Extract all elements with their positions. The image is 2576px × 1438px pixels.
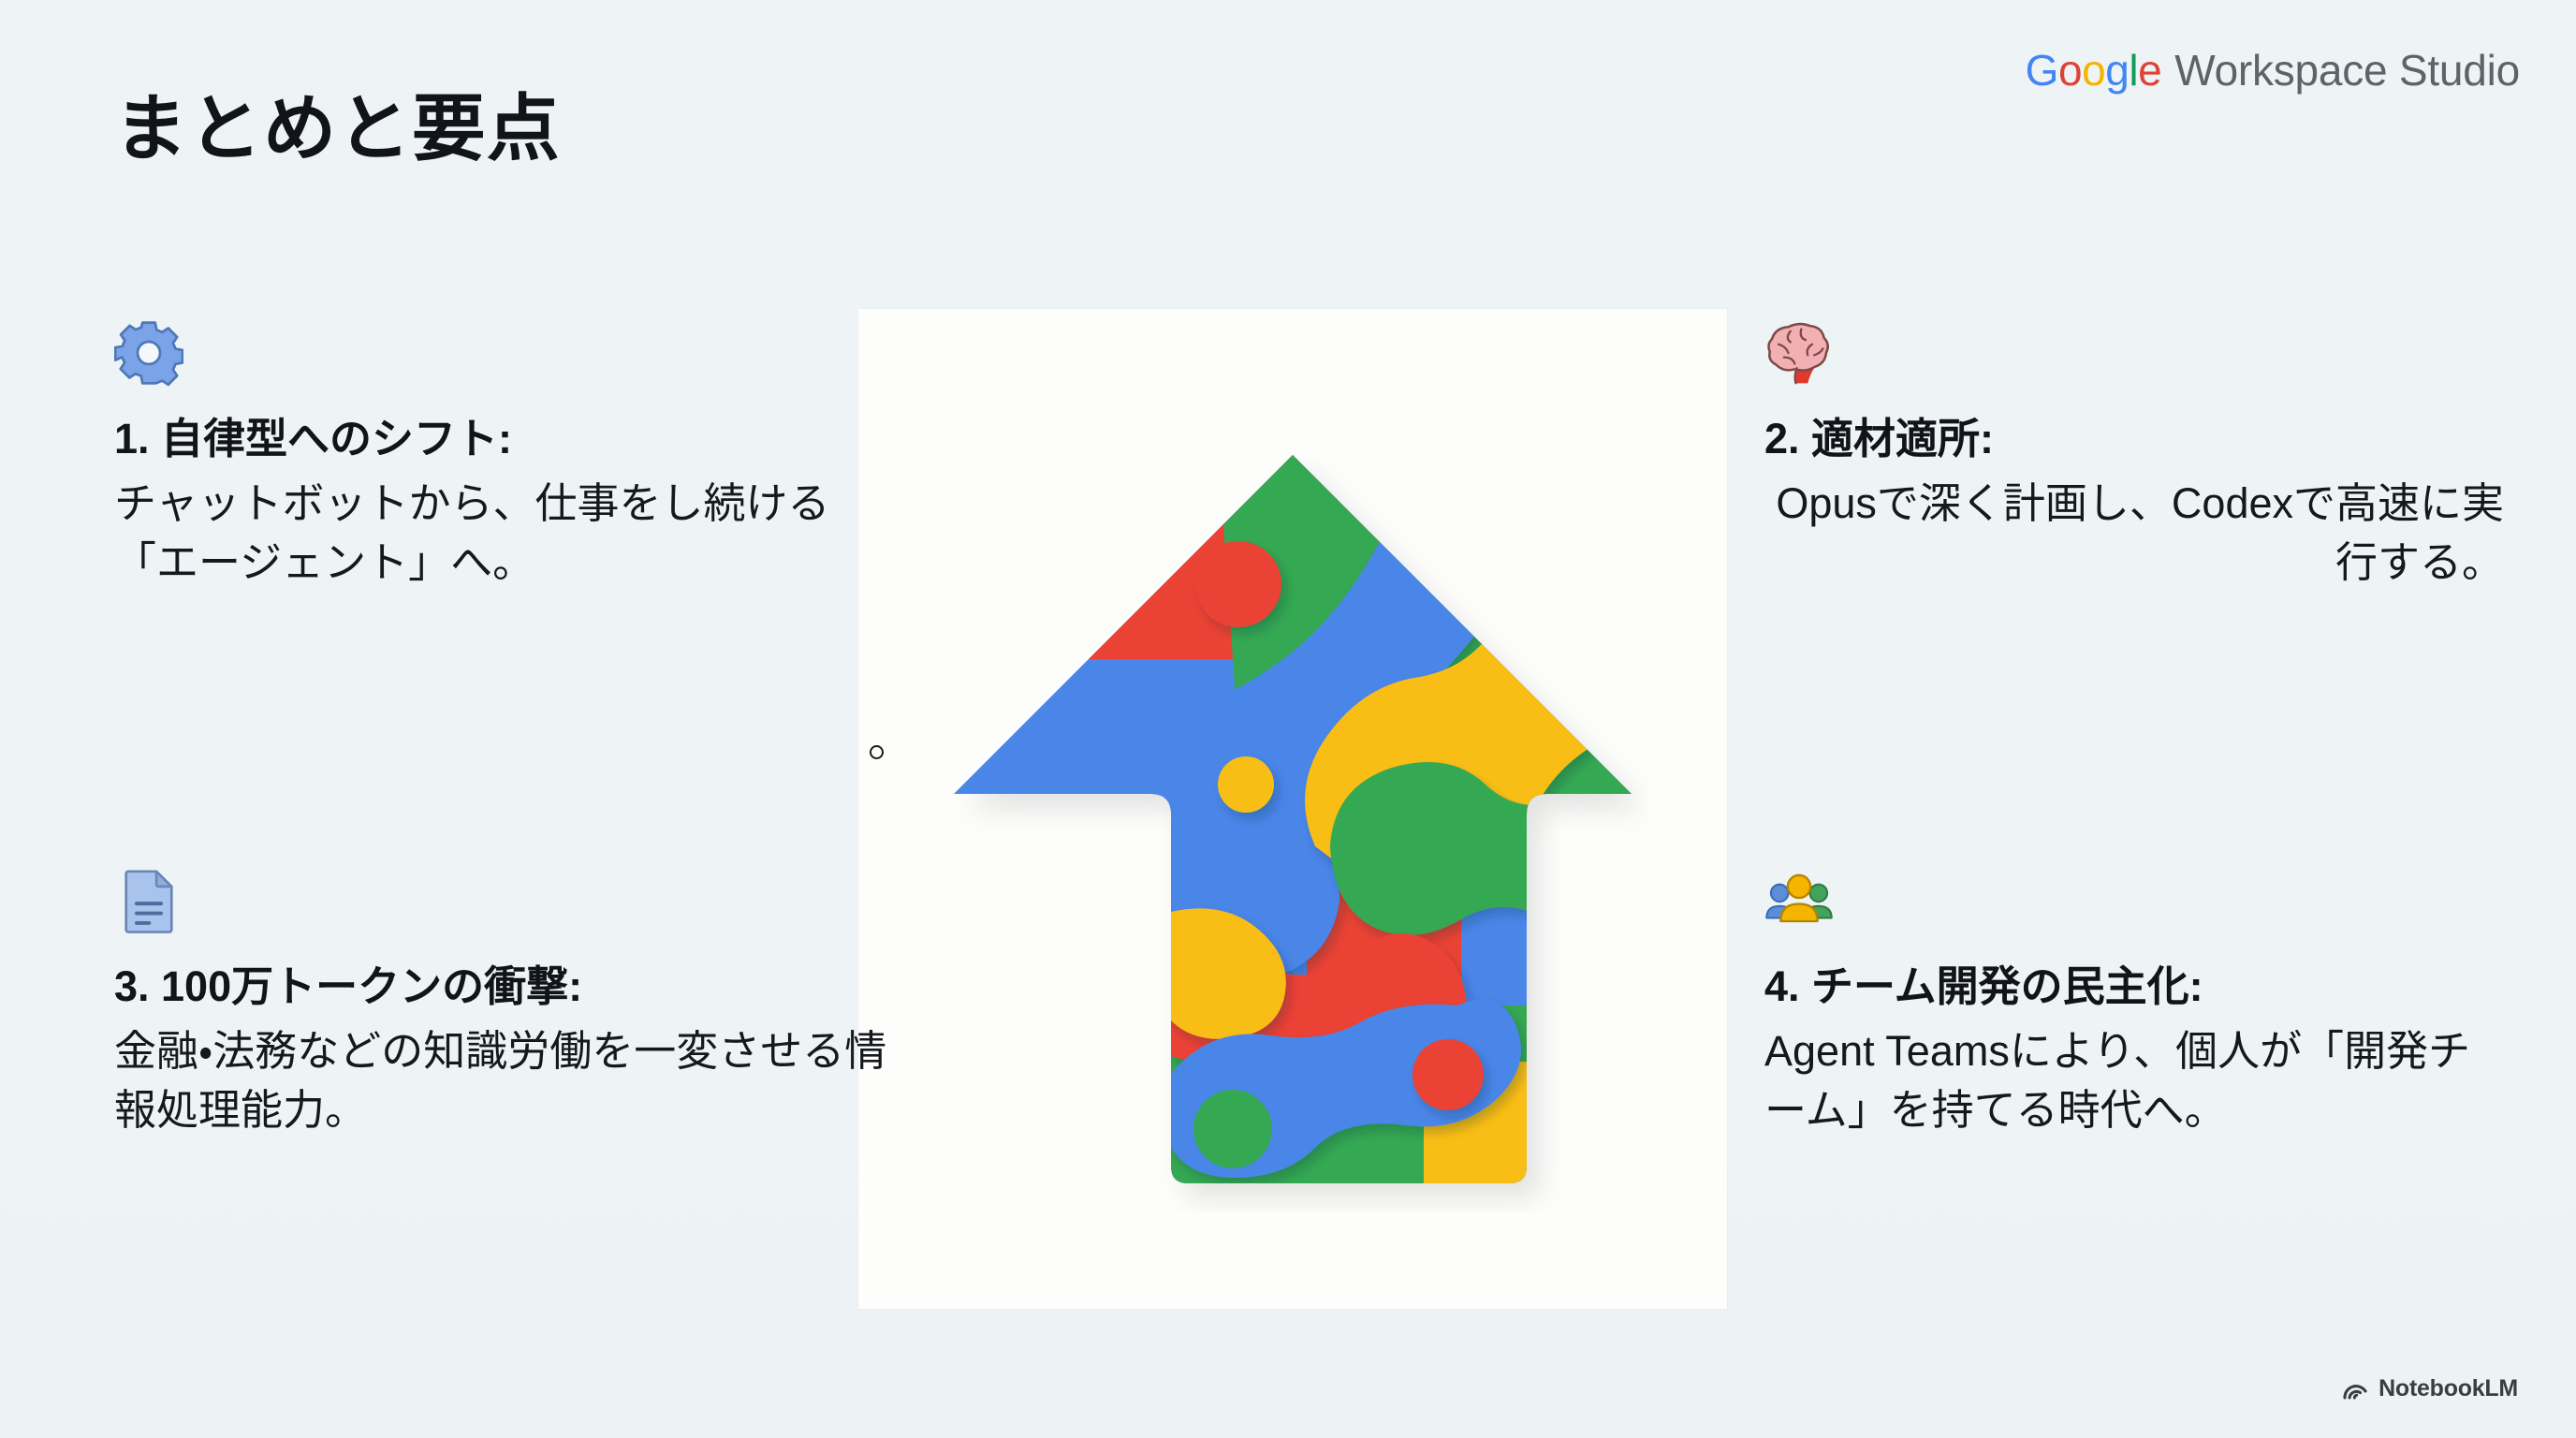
key-point-2: 2. 適材適所: Opusで深く計画し、Codexで高速に実行する。 <box>1764 318 2504 593</box>
key-point-1-heading: 1. 自律型へのシフト: <box>114 412 900 466</box>
google-letter: g <box>2105 49 2129 92</box>
key-point-1-body: チャットボットから、仕事をし続ける「エージェント」へ。 <box>114 474 900 594</box>
key-point-2-body: Opusで深く計画し、Codexで高速に実行する。 <box>1764 474 2504 594</box>
notebooklm-icon <box>2342 1378 2368 1401</box>
google-letter: G <box>2026 49 2058 92</box>
google-wordmark: Google <box>2026 49 2162 92</box>
page-title: まとめと要点 <box>114 92 561 165</box>
upward-arrow-illustration <box>937 406 1648 1211</box>
key-point-4: 4. チーム開発の民主化: Agent Teamsにより、個人が「開発チーム」を… <box>1764 866 2504 1140</box>
key-point-2-icon-wrap <box>1764 318 2504 388</box>
key-point-1: 1. 自律型へのシフト: チャットボットから、仕事をし続ける「エージェント」へ。 <box>114 318 900 593</box>
key-point-4-heading: 4. チーム開発の民主化: <box>1764 960 2504 1014</box>
brand-lockup: Google Workspace Studio <box>2026 49 2520 92</box>
hero-image-stage <box>858 309 1727 1309</box>
key-point-3-heading: 3. 100万トークンの衝撃: <box>114 960 900 1014</box>
key-point-4-icon-wrap <box>1764 866 2504 935</box>
key-point-4-body: Agent Teamsにより、個人が「開発チーム」を持てる時代へ。 <box>1764 1021 2504 1141</box>
google-letter: o <box>2082 49 2105 92</box>
people-group-icon <box>1764 866 1834 935</box>
brand-suffix-label: Workspace Studio <box>2174 49 2520 92</box>
google-letter: o <box>2058 49 2082 92</box>
google-letter: e <box>2138 49 2161 92</box>
key-point-1-icon-wrap <box>114 318 900 388</box>
gear-icon <box>114 318 183 388</box>
key-point-3-icon-wrap <box>114 866 900 935</box>
key-point-3: 3. 100万トークンの衝撃: 金融・法務などの知識労働を一変させる情報処理能力… <box>114 866 900 1140</box>
key-point-2-heading: 2. 適材適所: <box>1764 412 2504 466</box>
slide-canvas: まとめと要点 Google Workspace Studio <box>0 0 2576 1438</box>
hero-image-panel <box>858 309 1727 1309</box>
key-point-3-body: 金融・法務などの知識労働を一変させる情報処理能力。 <box>114 1021 900 1141</box>
notebooklm-label: NotebookLM <box>2378 1375 2518 1402</box>
brain-icon <box>1764 318 1834 388</box>
document-icon <box>114 866 183 935</box>
notebooklm-watermark: NotebookLM <box>2342 1375 2518 1402</box>
google-letter: l <box>2129 49 2138 92</box>
